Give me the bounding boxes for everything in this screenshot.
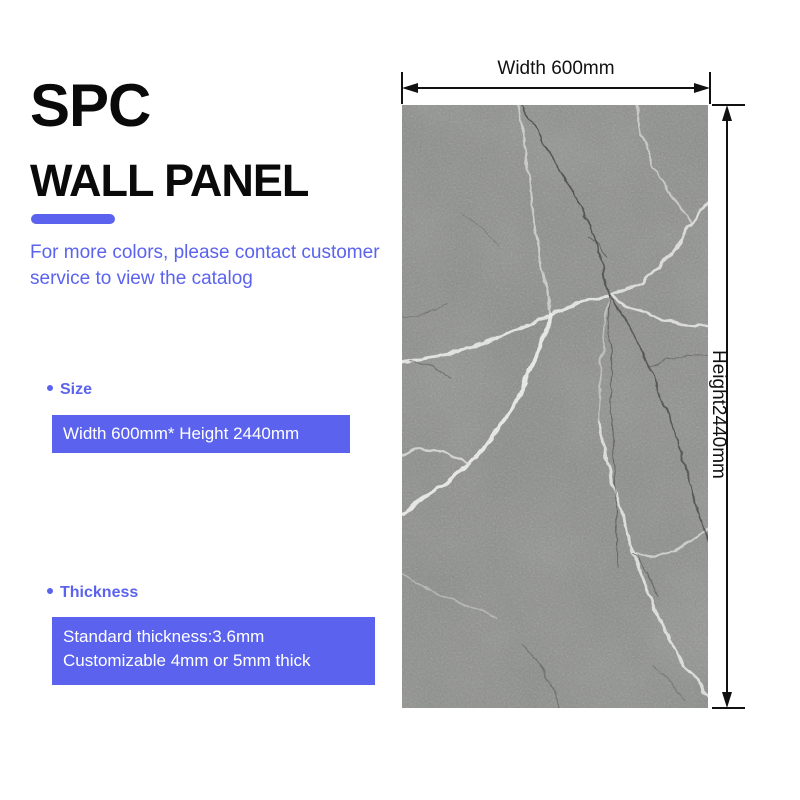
spec-value-thickness-line1: Standard thickness:3.6mm [63,625,375,649]
spec-label-size-text: Size [60,381,92,398]
width-arrowhead-right [694,83,710,93]
bullet-dot-icon [47,588,53,594]
product-subtitle: For more colors, please contact customer… [30,240,380,292]
height-arrowhead-bottom [722,692,732,708]
product-title-line2: WALL PANEL [30,158,308,203]
spec-value-thickness-line2: Customizable 4mm or 5mm thick [63,649,375,673]
product-info-column: SPC WALL PANEL For more colors, please c… [0,0,400,800]
width-arrowhead-left [402,83,418,93]
spec-label-thickness: Thickness [47,584,138,602]
marble-panel-image [402,105,708,708]
marble-texture-svg [402,105,708,708]
arrow-heads [402,83,732,708]
spec-label-size: Size [47,381,92,399]
height-dimension-label: Height2440mm [707,350,729,479]
accent-underline-bar [31,214,115,224]
spec-value-box-size: Width 600mm* Height 2440mm [52,415,350,453]
bullet-dot-icon [47,385,53,391]
spec-value-box-thickness: Standard thickness:3.6mm Customizable 4m… [52,617,375,685]
height-arrowhead-top [722,105,732,121]
spec-value-size-line1: Width 600mm* Height 2440mm [63,422,350,446]
product-title-line1: SPC [30,76,150,136]
spec-label-thickness-text: Thickness [60,584,138,601]
width-dimension-label: Width 600mm [402,58,710,80]
